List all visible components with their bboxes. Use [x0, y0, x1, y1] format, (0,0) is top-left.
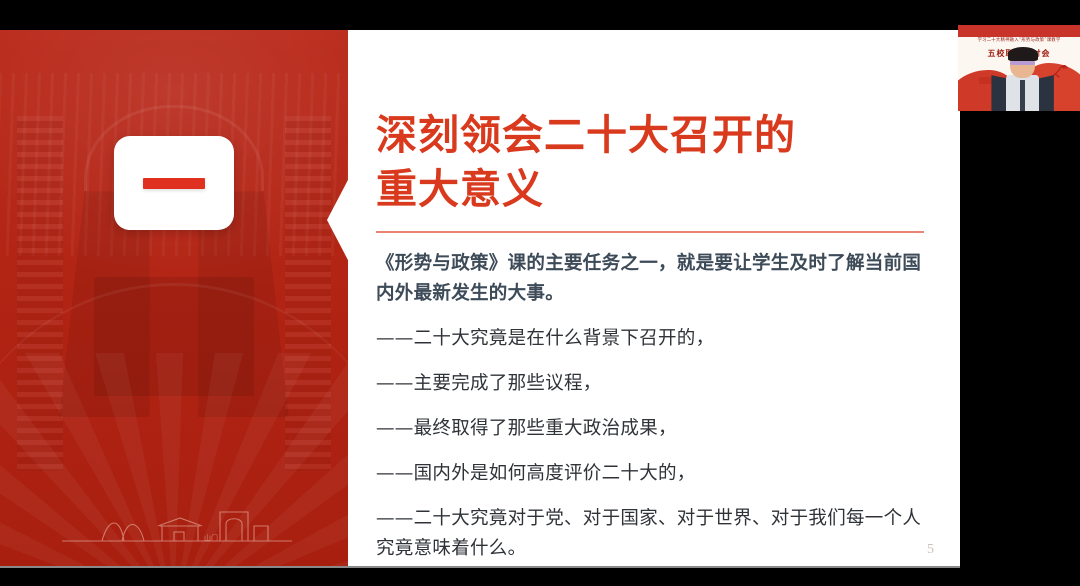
- page-title: 深刻领会二十大召开的 重大意义: [376, 108, 932, 216]
- bullet-item-1: ——二十大究竟是在什么背景下召开的，: [376, 324, 936, 354]
- left-image-panel: 山门: [0, 30, 348, 568]
- section-number-badge: [114, 136, 234, 230]
- lead-paragraph: 《形势与政策》课的主要任务之一，就是要让学生及时了解当前国内外最新发生的大事。: [376, 249, 936, 309]
- presenter-tie: [1020, 80, 1024, 111]
- presenter-video-feed[interactable]: 学习二十大精神融入“形势与政策”课教学 五校联合研讨会: [958, 25, 1080, 111]
- page-number: 5: [927, 542, 934, 558]
- slide-canvas: 山门 深刻领会二十大召开的 重大意义 《形势与政策》课的主要任务之一，就是要让学…: [0, 30, 960, 568]
- bullet-item-5: ——二十大究竟对于党、对于国家、对于世界、对于我们每一个人究竟意味着什么。: [376, 504, 936, 564]
- page-title-line2: 重大意义: [376, 162, 932, 216]
- bullet-item-2: ——主要完成了那些议程，: [376, 369, 936, 399]
- hall-floor-arc: [0, 283, 348, 530]
- presentation-screen: 山门 深刻领会二十大召开的 重大意义 《形势与政策》课的主要任务之一，就是要让学…: [0, 0, 1080, 586]
- bullet-item-4: ——国内外是如何高度评价二十大的，: [376, 459, 936, 489]
- presenter-figure: [998, 49, 1047, 111]
- banner-headline: 学习二十大精神融入“形势与政策”课教学: [965, 37, 1072, 43]
- section-numeral-one-icon: [143, 178, 205, 189]
- presenter-glasses-icon: [1010, 61, 1034, 65]
- page-title-line1: 深刻领会二十大召开的: [376, 108, 932, 162]
- slide-content: 深刻领会二十大召开的 重大意义 《形势与政策》课的主要任务之一，就是要让学生及时…: [348, 30, 960, 568]
- bullet-item-3: ——最终取得了那些重大政治成果，: [376, 414, 936, 444]
- presenter-hair: [1008, 47, 1038, 61]
- title-divider: [376, 231, 924, 233]
